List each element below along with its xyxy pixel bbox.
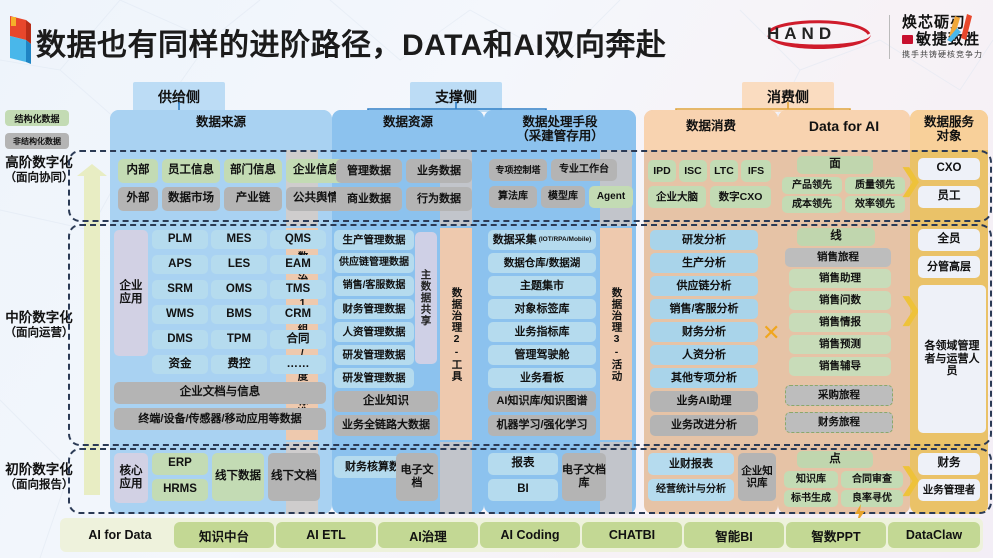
chip-res-hr-data[interactable]: 人资管理数据 [334,322,414,342]
page-title: 数据也有同样的进阶路径，DATA和AI双向奔赴 [36,20,666,64]
chip-ai-sales-intel[interactable]: 销售情报 [789,313,891,332]
chip-app-expense[interactable]: 费控 [211,355,267,374]
chip-ai-contract-review[interactable]: 合同审查 [841,471,903,488]
chip-cons-enterprise-brain[interactable]: 企业大脑 [648,186,706,208]
chip-proc-object-tag-lib[interactable]: 对象标签库 [488,299,596,319]
chip-res-business-data[interactable]: 业务数据 [406,159,472,183]
chip-proc-model-lib[interactable]: 模型库 [541,186,585,208]
chip-res-fullchain-bigdata[interactable]: 业务全链路大数据 [334,415,438,436]
chip-cons-supplychain-analysis[interactable]: 供应链分析 [650,276,758,296]
chip-ai-sales-forecast[interactable]: 销售预测 [789,335,891,354]
header-service-object: 数据服务对象 [910,110,988,150]
chip-app-mes[interactable]: MES [211,230,267,249]
red-square-icon [902,35,913,44]
hand-wordmark: HAND [767,24,836,44]
chip-obj-senior-exec[interactable]: 分管高层 [918,256,980,278]
maturity-up-arrow-icon [84,175,100,495]
chip-source-industry-chain[interactable]: 产业链 [224,187,282,211]
chip-app-eam[interactable]: EAM [270,255,326,274]
slide-canvas: 数据也有同样的进阶路径，DATA和AI双向奔赴 HAND 焕芯砺刃 敏捷致胜 携… [0,0,993,558]
chip-proc-ml-rl[interactable]: 机器学习/强化学习 [488,415,596,436]
chip-ai-sales-coaching[interactable]: 销售辅导 [789,357,891,376]
chip-low-bi[interactable]: BI [488,479,558,501]
chip-enterprise-app-label: 企业应用 [114,230,148,356]
chip-res-behavior-data[interactable]: 行为数据 [406,187,472,211]
chip-app-qms[interactable]: QMS [270,230,326,249]
chip-cons-digital-cxo[interactable]: 数字CXO [710,186,771,208]
chip-ai-point-head[interactable]: 点 [797,451,873,468]
ai-chip-ai-coding[interactable]: AI Coding [480,522,580,548]
chip-proc-data-collection[interactable]: 数据采集(IOT/RPA/Mobile) [488,230,596,250]
chip-ai-yield-optimization[interactable]: 良率寻优 [841,490,903,507]
header-data-for-ai: Data for AI [778,110,910,150]
chip-low-enterprise-knowledge-lib[interactable]: 企业知识库 [738,453,776,501]
ai-chip-ai-governance[interactable]: AI治理 [378,522,478,548]
chip-ai-quality-lead[interactable]: 质量领先 [845,177,905,194]
chip-ai-sales-journey-head[interactable]: 销售旅程 [785,248,891,267]
governance-strip-3: 数据治理3-活动 [600,228,632,440]
chip-cons-business-improve-analysis[interactable]: 业务改进分析 [650,415,758,436]
chip-app-contract[interactable]: 合同 [270,330,326,349]
ai-chip-knowledge-platform[interactable]: 知识中台 [174,522,274,548]
header-consume: 数据消费 [644,110,778,150]
chip-res-enterprise-knowledge[interactable]: 企业知识 [334,391,438,412]
chip-low-hrms[interactable]: HRMS [152,479,208,501]
chip-obj-cxo[interactable]: CXO [918,158,980,180]
chip-low-offline-data[interactable]: 线下数据 [212,453,264,501]
chip-cons-finance-analysis[interactable]: 财务分析 [650,322,758,342]
ai-chip-smart-bi[interactable]: 智能BI [684,522,784,548]
chip-proc-agent[interactable]: Agent [589,186,633,208]
chip-app-les[interactable]: LES [211,255,267,274]
chip-ai-finance-journey[interactable]: 财务旅程 [785,412,893,433]
chip-cons-other-analysis[interactable]: 其他专项分析 [650,368,758,388]
chip-app-tms[interactable]: TMS [270,280,326,299]
slogan-line-3: 携手共铸硬核竞争力 [902,48,983,61]
chip-source-external-tag[interactable]: 外部 [118,187,158,211]
chip-ai-sales-assistant[interactable]: 销售助理 [789,269,891,288]
chip-res-management-data[interactable]: 管理数据 [336,159,402,183]
brand-flag-icon [6,14,34,66]
chip-source-employee-info[interactable]: 员工信息 [162,159,220,183]
hand-logo: HAND [759,14,879,60]
chip-ai-knowledge-lib[interactable]: 知识库 [784,471,838,488]
chip-res-commerce-data[interactable]: 商业数据 [336,187,402,211]
chip-ai-face-head[interactable]: 面 [797,156,873,174]
chip-app-aps[interactable]: APS [152,255,208,274]
cross-multiply-icon: ✕ [762,320,780,346]
chip-low-electronic-doc-lib[interactable]: 电子文档库 [562,453,606,501]
chip-app-dms[interactable]: DMS [152,330,208,349]
chip-cons-sales-service-analysis[interactable]: 销售/客服分析 [650,299,758,319]
maturity-label-high: 高阶数字化 （面向协同） [0,155,78,186]
chip-obj-business-manager[interactable]: 业务管理者 [918,479,980,501]
master-data-share: 主数据共享 [415,232,437,364]
ribbon-icon [943,10,979,42]
chip-low-ops-statistics[interactable]: 经营统计与分析 [648,479,734,501]
chip-ai-purchase-journey[interactable]: 采购旅程 [785,385,893,406]
ai-chip-ai-etl[interactable]: AI ETL [276,522,376,548]
chip-low-offline-doc[interactable]: 线下文档 [268,453,320,501]
chip-res-supplychain-data[interactable]: 供应链管理数据 [334,253,414,273]
ai-chip-dataclaw[interactable]: DataClaw [888,522,980,548]
chip-obj-employee[interactable]: 员工 [918,186,980,208]
chip-ai-product-lead[interactable]: 产品领先 [782,177,842,194]
chip-enterprise-docs[interactable]: 企业文档与信息 [114,382,326,404]
chip-source-dept-info[interactable]: 部门信息 [224,159,282,183]
legend-structured: 结构化数据 [5,110,69,126]
chip-proc-pro-workbench[interactable]: 专业工作台 [551,159,617,181]
ai-chip-ai-for-data[interactable]: AI for Data [68,522,172,548]
chip-cons-ipd[interactable]: IPD [648,160,676,182]
chip-app-srm[interactable]: SRM [152,280,208,299]
chip-proc-management-cockpit[interactable]: 管理驾驶舱 [488,345,596,365]
chip-obj-all-staff[interactable]: 全员 [918,229,980,251]
chip-terminal-device-data[interactable]: 终端/设备/传感器/移动应用等数据 [114,408,326,430]
chip-app-tpm[interactable]: TPM [211,330,267,349]
chip-proc-subject-mart[interactable]: 主题集市 [488,276,596,296]
ai-chip-smart-ppt[interactable]: 智数PPT [786,522,886,548]
governance-strip-2: 数据治理2-工具 [440,228,472,440]
chip-low-report[interactable]: 报表 [488,453,558,475]
chip-res-sales-service-data[interactable]: 销售/客服数据 [334,276,414,296]
chip-app-crm[interactable]: CRM [270,305,326,324]
chip-obj-finance[interactable]: 财务 [918,453,980,475]
header-resource: 数据资源 [332,110,484,138]
chip-cons-ifs[interactable]: IFS [741,160,771,182]
chip-low-biz-finance-report[interactable]: 业财报表 [648,453,734,475]
chip-proc-control-tower[interactable]: 专项控制塔 [489,159,547,181]
slide-header: 数据也有同样的进阶路径，DATA和AI双向奔赴 HAND 焕芯砺刃 敏捷致胜 携… [0,0,993,74]
chip-core-app-label: 核心应用 [114,453,148,503]
chip-app-wms[interactable]: WMS [152,305,208,324]
chip-app-plm[interactable]: PLM [152,230,208,249]
maturity-label-mid: 中阶数字化 （面向运营） [0,310,78,341]
chip-res-rd-data-2[interactable]: 研发管理数据 [334,368,414,388]
chip-proc-business-dashboard[interactable]: 业务看板 [488,368,596,388]
chip-cons-production-analysis[interactable]: 生产分析 [650,253,758,273]
chip-ai-cost-lead[interactable]: 成本领先 [782,196,842,213]
chip-app-oms[interactable]: OMS [211,280,267,299]
chip-proc-warehouse-lake[interactable]: 数据仓库/数据湖 [488,253,596,273]
chip-cons-rd-analysis[interactable]: 研发分析 [650,230,758,250]
chip-low-erp[interactable]: ERP [152,453,208,475]
chip-ai-line-head[interactable]: 线 [797,228,875,246]
brand-area: HAND 焕芯砺刃 敏捷致胜 携手共铸硬核竞争力 [759,8,983,66]
header-source: 数据来源 [110,110,332,138]
chip-source-internal-tag[interactable]: 内部 [118,159,158,183]
header-process: 数据处理手段（采建管存用） [484,110,636,150]
chip-proc-ai-knowledge-graph[interactable]: AI知识库/知识图谱 [488,391,596,412]
chip-ai-efficiency-lead[interactable]: 效率领先 [845,196,905,213]
chip-low-electronic-doc[interactable]: 电子文档 [396,453,438,501]
legend-unstructured: 非结构化数据 [5,133,69,149]
chip-cons-ltc[interactable]: LTC [710,160,738,182]
chip-cons-hr-analysis[interactable]: 人资分析 [650,345,758,365]
chip-res-finance-data[interactable]: 财务管理数据 [334,299,414,319]
maturity-label-low: 初阶数字化 （面向报告） [0,462,78,493]
brand-divider [889,15,890,59]
chip-ai-sales-query[interactable]: 销售问数 [789,291,891,310]
chip-app-fund[interactable]: 资金 [152,355,208,374]
chip-proc-business-metric-lib[interactable]: 业务指标库 [488,322,596,342]
chip-app-bms[interactable]: BMS [211,305,267,324]
chip-obj-domain-managers[interactable]: 各领域管理者与运营人员 [918,285,986,433]
chip-ai-bid-generation[interactable]: 标书生成 [784,490,838,507]
governance-strip-2-bottom [440,442,472,514]
chip-proc-algorithm-lib[interactable]: 算法库 [489,186,537,208]
chip-source-data-market[interactable]: 数据市场 [162,187,220,211]
ai-chip-chatbi[interactable]: CHATBI [582,522,682,548]
chip-app-more[interactable]: …… [270,355,326,374]
chip-res-production-data[interactable]: 生产管理数据 [334,230,414,250]
chip-cons-business-ai-assistant[interactable]: 业务AI助理 [650,391,758,412]
chip-res-rd-data-1[interactable]: 研发管理数据 [334,345,414,365]
chip-cons-isc[interactable]: ISC [679,160,707,182]
